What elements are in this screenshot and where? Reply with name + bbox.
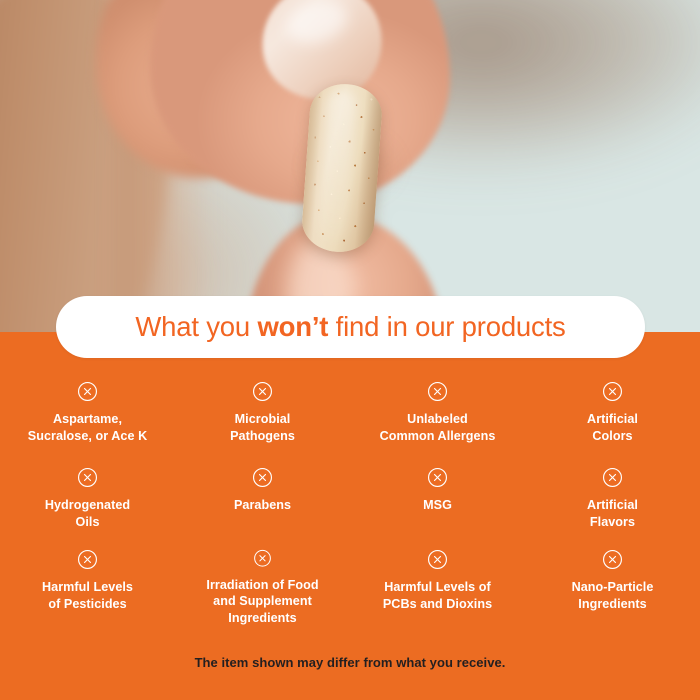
exclusion-label: Harmful Levels ofPCBs and Dioxins bbox=[383, 579, 492, 612]
exclusion-label: HydrogenatedOils bbox=[45, 497, 130, 530]
x-circle-icon bbox=[602, 549, 623, 570]
x-circle-icon bbox=[602, 381, 623, 402]
headline-emphasis: won’t bbox=[257, 311, 328, 342]
exclusion-item: MSG bbox=[350, 458, 525, 540]
product-photo bbox=[0, 0, 700, 345]
exclusion-item: Aspartame,Sucralose, or Ace K bbox=[0, 372, 175, 458]
exclusion-item: HydrogenatedOils bbox=[0, 458, 175, 540]
page-title: What you won’t find in our products bbox=[135, 311, 565, 343]
exclusion-label: Parabens bbox=[234, 497, 291, 514]
product-claims-card: What you won’t find in our products Aspa… bbox=[0, 0, 700, 700]
headline-pill: What you won’t find in our products bbox=[56, 296, 645, 358]
exclusions-grid: Aspartame,Sucralose, or Ace K MicrobialP… bbox=[0, 372, 700, 626]
exclusion-item: MicrobialPathogens bbox=[175, 372, 350, 458]
exclusion-item: ArtificialColors bbox=[525, 372, 700, 458]
exclusion-label: Irradiation of Foodand SupplementIngredi… bbox=[206, 577, 318, 627]
exclusion-label: ArtificialColors bbox=[587, 411, 638, 444]
x-circle-icon bbox=[77, 467, 98, 488]
x-circle-icon bbox=[77, 549, 98, 570]
exclusion-label: Nano-ParticleIngredients bbox=[572, 579, 654, 612]
disclaimer-text: The item shown may differ from what you … bbox=[0, 655, 700, 670]
exclusion-label: Harmful Levelsof Pesticides bbox=[42, 579, 133, 612]
exclusions-row-2: HydrogenatedOils Parabens MSG Artificial… bbox=[0, 458, 700, 540]
exclusion-item: Parabens bbox=[175, 458, 350, 540]
exclusion-label: MicrobialPathogens bbox=[230, 411, 295, 444]
exclusion-item: Nano-ParticleIngredients bbox=[525, 540, 700, 626]
tablet-icon bbox=[300, 82, 384, 255]
exclusion-item: UnlabeledCommon Allergens bbox=[350, 372, 525, 458]
x-circle-icon bbox=[252, 381, 273, 402]
x-circle-icon bbox=[427, 549, 448, 570]
exclusion-item: Irradiation of Foodand SupplementIngredi… bbox=[175, 540, 350, 626]
x-circle-icon bbox=[252, 549, 273, 568]
x-circle-icon bbox=[427, 467, 448, 488]
x-circle-icon bbox=[602, 467, 623, 488]
x-circle-icon bbox=[427, 381, 448, 402]
exclusion-item: ArtificialFlavors bbox=[525, 458, 700, 540]
exclusion-label: UnlabeledCommon Allergens bbox=[380, 411, 496, 444]
exclusions-row-1: Aspartame,Sucralose, or Ace K MicrobialP… bbox=[0, 372, 700, 458]
exclusions-row-3: Harmful Levelsof Pesticides Irradiation … bbox=[0, 540, 700, 626]
exclusion-label: MSG bbox=[423, 497, 452, 514]
exclusion-item: Harmful Levels ofPCBs and Dioxins bbox=[350, 540, 525, 626]
exclusion-item: Harmful Levelsof Pesticides bbox=[0, 540, 175, 626]
exclusion-label: Aspartame,Sucralose, or Ace K bbox=[28, 411, 147, 444]
exclusion-label: ArtificialFlavors bbox=[587, 497, 638, 530]
headline-part-2: find in our products bbox=[328, 311, 565, 342]
x-circle-icon bbox=[252, 467, 273, 488]
headline-part-1: What you bbox=[135, 311, 257, 342]
x-circle-icon bbox=[77, 381, 98, 402]
